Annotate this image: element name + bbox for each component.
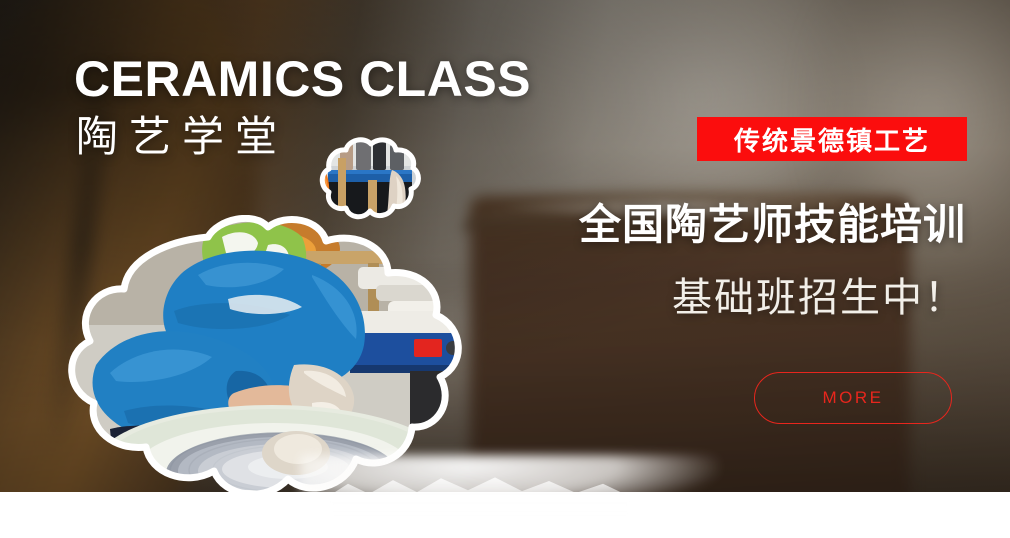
more-button-label: MORE bbox=[823, 388, 884, 408]
headline-english: CERAMICS CLASS bbox=[74, 54, 531, 104]
tradition-badge: 传统景德镇工艺 bbox=[697, 117, 967, 161]
promo-headline-primary: 全国陶艺师技能培训 bbox=[579, 201, 966, 249]
promo-headline-secondary: 基础班招生中！ bbox=[672, 275, 966, 321]
ceramics-class-banner: CERAMICS CLASS 陶艺学堂 传统景德镇工艺 全国陶艺师技能培训 基础… bbox=[0, 0, 1010, 538]
more-button[interactable]: MORE bbox=[754, 372, 952, 424]
tradition-badge-label: 传统景德镇工艺 bbox=[734, 121, 930, 158]
cloud-photo-kiln-shelf bbox=[316, 136, 424, 222]
cloud-small-svg bbox=[316, 136, 424, 222]
headline-chinese: 陶艺学堂 bbox=[76, 113, 288, 161]
